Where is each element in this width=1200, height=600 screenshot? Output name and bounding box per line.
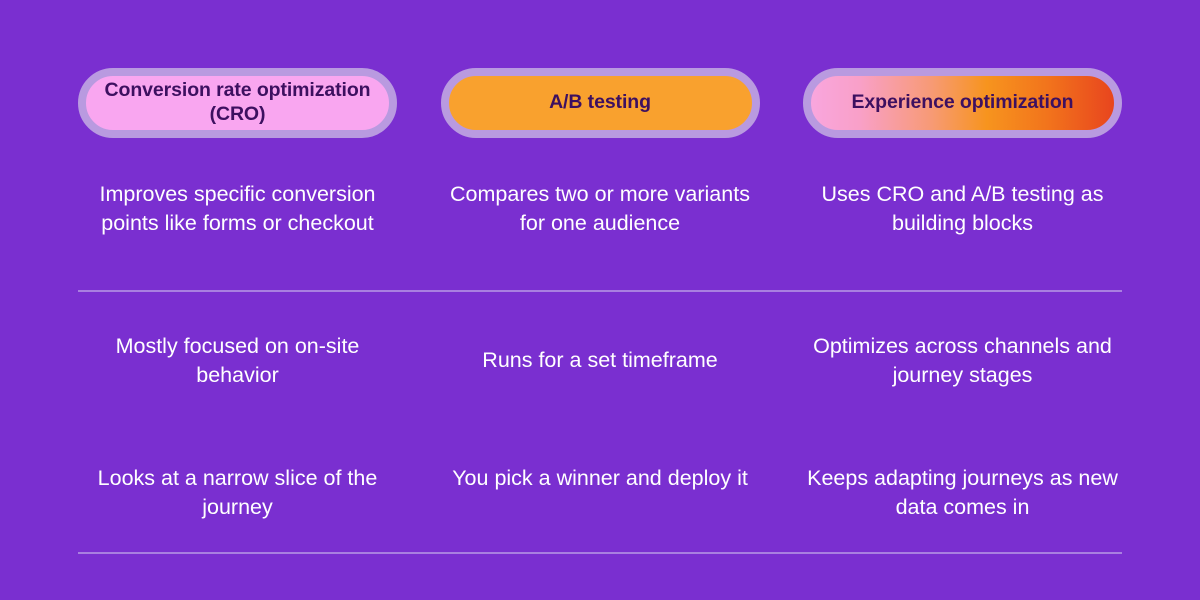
column-header-cro-label: Conversion rate optimization (CRO) xyxy=(86,79,389,127)
column-header-ab-testing: A/B testing xyxy=(441,68,760,138)
cell-row2-experience-optimization: Optimizes across channels and journey st… xyxy=(803,290,1122,432)
column-header-experience-optimization-label: Experience optimization xyxy=(842,91,1084,115)
cell-text: Optimizes across channels and journey st… xyxy=(807,332,1118,390)
cell-row3-cro: Looks at a narrow slice of the journey xyxy=(78,432,397,552)
column-header-ab-testing-label: A/B testing xyxy=(539,91,661,115)
cell-text: Mostly focused on on-site behavior xyxy=(82,332,393,390)
cell-text: Keeps adapting journeys as new data come… xyxy=(807,464,1118,522)
table-row: Improves specific conversion points like… xyxy=(78,170,1122,290)
table-row: Looks at a narrow slice of the journey Y… xyxy=(78,432,1122,552)
cell-row1-cro: Improves specific conversion points like… xyxy=(78,170,397,290)
column-header-experience-optimization: Experience optimization xyxy=(803,68,1122,138)
cell-row2-ab-testing: Runs for a set timeframe xyxy=(441,290,760,432)
cell-text: Uses CRO and A/B testing as building blo… xyxy=(807,180,1118,238)
cell-row2-cro: Mostly focused on on-site behavior xyxy=(78,290,397,432)
cell-text: Compares two or more variants for one au… xyxy=(445,180,756,238)
column-header-row: Conversion rate optimization (CRO) A/B t… xyxy=(78,68,1122,138)
cell-row3-experience-optimization: Keeps adapting journeys as new data come… xyxy=(803,432,1122,552)
cell-text: Runs for a set timeframe xyxy=(482,346,717,375)
row-divider-2 xyxy=(78,552,1122,554)
cell-row1-ab-testing: Compares two or more variants for one au… xyxy=(441,170,760,290)
cell-text: You pick a winner and deploy it xyxy=(452,464,748,493)
cell-row1-experience-optimization: Uses CRO and A/B testing as building blo… xyxy=(803,170,1122,290)
comparison-grid: Improves specific conversion points like… xyxy=(78,170,1122,552)
cell-text: Improves specific conversion points like… xyxy=(82,180,393,238)
table-row: Mostly focused on on-site behavior Runs … xyxy=(78,290,1122,432)
cell-text: Looks at a narrow slice of the journey xyxy=(82,464,393,522)
cell-row3-ab-testing: You pick a winner and deploy it xyxy=(441,432,760,552)
column-header-cro: Conversion rate optimization (CRO) xyxy=(78,68,397,138)
comparison-table: Conversion rate optimization (CRO) A/B t… xyxy=(0,0,1200,600)
